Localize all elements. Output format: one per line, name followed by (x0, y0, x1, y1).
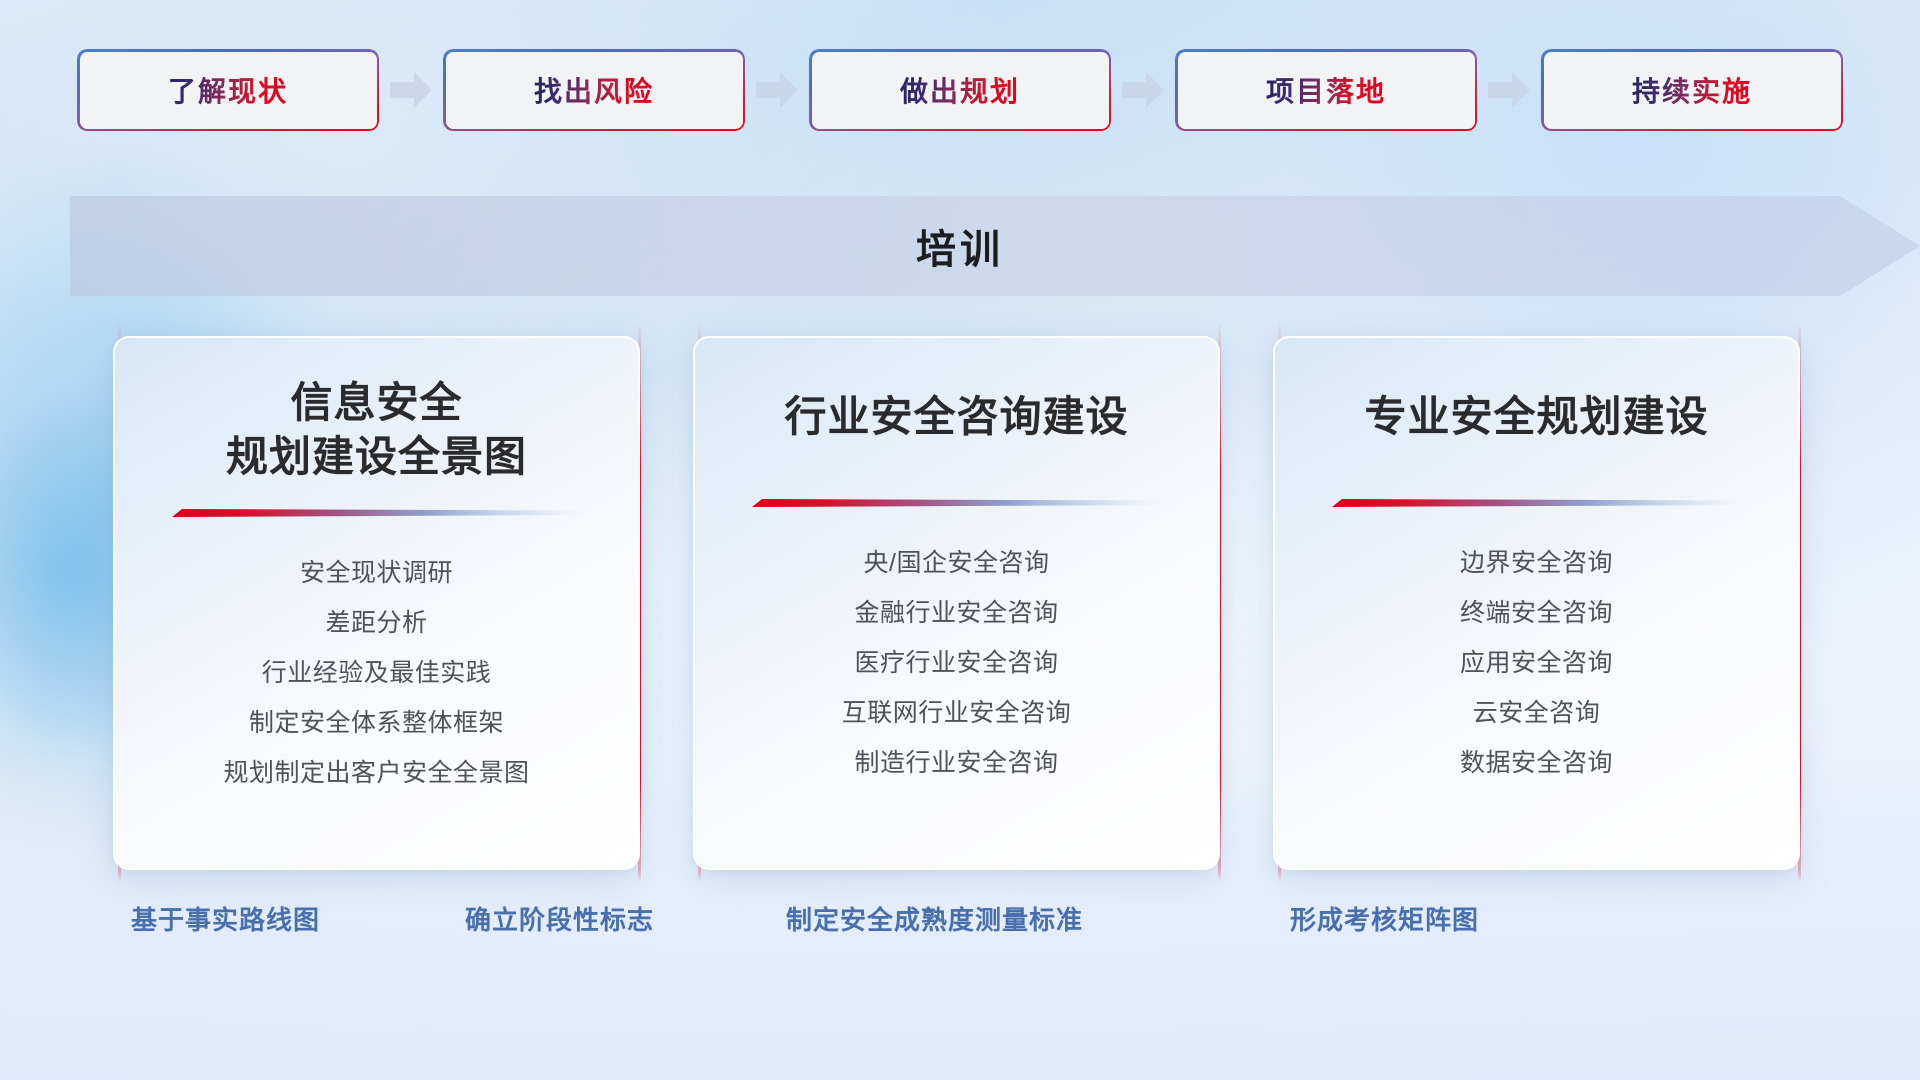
bottom-label-4: 形成考核矩阵图 (1290, 900, 1479, 937)
process-step-3[interactable]: 做出规划 (809, 49, 1111, 131)
card-professional-security-planning[interactable]: 专业安全规划建设 边界安全咨询 终端安全咨询 应用安 (1273, 336, 1800, 870)
bottom-label-2: 确立阶段性标志 (465, 900, 654, 937)
arrow-right-icon (1486, 68, 1532, 112)
list-item: 医疗行业安全咨询 (854, 638, 1058, 688)
card-information-security-blueprint[interactable]: 信息安全 规划建设全景图 安全现状调研 差距分析 行 (113, 336, 640, 870)
card-industry-security-consulting[interactable]: 行业安全咨询建设 央/国企安全咨询 金融行业安全咨询 (693, 336, 1220, 870)
list-item: 数据安全咨询 (1460, 738, 1613, 788)
list-item: 制造行业安全咨询 (854, 738, 1058, 788)
card-title: 信息安全 规划建设全景图 (226, 376, 527, 484)
list-item: 安全现状调研 (300, 548, 453, 598)
process-step-1-label: 了解现状 (168, 70, 288, 110)
card-row: 信息安全 规划建设全景图 安全现状调研 差距分析 行 (0, 322, 1920, 882)
card-item-list: 央/国企安全咨询 金融行业安全咨询 医疗行业安全咨询 互联网行业安全咨询 制造行… (842, 538, 1072, 788)
process-step-2-label: 找出风险 (534, 70, 654, 110)
list-item: 终端安全咨询 (1460, 588, 1613, 638)
list-item: 应用安全咨询 (1460, 638, 1613, 688)
card-divider-icon (168, 506, 586, 522)
process-step-strip: 了解现状 找出风险 做出规划 项目落地 持续实施 (0, 0, 1920, 180)
list-item: 央/国企安全咨询 (864, 538, 1050, 588)
training-banner-label: 培训 (916, 217, 1004, 275)
bottom-label-3: 制定安全成熟度测量标准 (786, 900, 1083, 937)
card-divider-icon (1328, 496, 1746, 512)
list-item: 互联网行业安全咨询 (842, 688, 1072, 738)
list-item: 金融行业安全咨询 (854, 588, 1058, 638)
list-item: 制定安全体系整体框架 (249, 698, 504, 748)
process-step-4-label: 项目落地 (1266, 70, 1386, 110)
process-step-3-label: 做出规划 (900, 70, 1020, 110)
list-item: 云安全咨询 (1473, 688, 1601, 738)
list-item: 边界安全咨询 (1460, 538, 1613, 588)
training-banner-label-wrap: 培训 (70, 196, 1850, 296)
bottom-label-row: 基于事实路线图 确立阶段性标志 制定安全成熟度测量标准 形成考核矩阵图 (0, 900, 1920, 990)
arrow-right-icon (1120, 68, 1166, 112)
bottom-label-1: 基于事实路线图 (131, 900, 320, 937)
process-step-4[interactable]: 项目落地 (1175, 49, 1477, 131)
card-divider-icon (748, 496, 1166, 512)
training-banner: 培训 (70, 196, 1920, 296)
list-item: 规划制定出客户安全全景图 (223, 748, 529, 798)
card-title: 专业安全规划建设 (1364, 390, 1708, 444)
list-item: 行业经验及最佳实践 (262, 648, 492, 698)
card-title: 行业安全咨询建设 (784, 390, 1128, 444)
process-step-2[interactable]: 找出风险 (443, 49, 745, 131)
process-step-1[interactable]: 了解现状 (77, 49, 379, 131)
list-item: 差距分析 (325, 598, 427, 648)
card-item-list: 边界安全咨询 终端安全咨询 应用安全咨询 云安全咨询 数据安全咨询 (1460, 538, 1613, 788)
process-step-5[interactable]: 持续实施 (1541, 49, 1843, 131)
arrow-right-icon (388, 68, 434, 112)
process-step-5-label: 持续实施 (1632, 70, 1752, 110)
card-item-list: 安全现状调研 差距分析 行业经验及最佳实践 制定安全体系整体框架 规划制定出客户… (223, 548, 529, 798)
arrow-right-icon (754, 68, 800, 112)
